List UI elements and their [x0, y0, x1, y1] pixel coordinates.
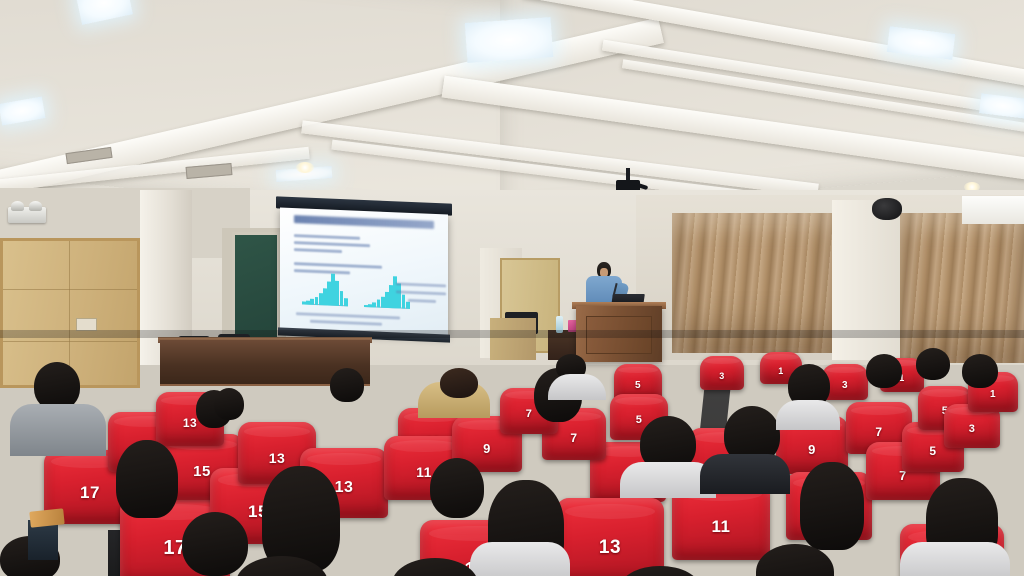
- slide-caption-1a: [296, 312, 400, 319]
- seating-front-shadow: [0, 330, 1024, 338]
- lecture-hall-photo: 5313117171515151313131111997751311151199…: [0, 0, 1024, 576]
- person-shoulders: [776, 400, 840, 430]
- person-head: [214, 388, 244, 420]
- person-head: [182, 512, 248, 576]
- emergency-lamp-left: [11, 201, 24, 211]
- person-head: [430, 458, 484, 518]
- slide-body-line-1: [294, 234, 360, 240]
- person-shoulders: [900, 542, 1010, 576]
- slide-histogram-left: [302, 270, 348, 306]
- right-window: [962, 196, 1024, 224]
- person-head: [440, 368, 478, 398]
- seat-number-label: 3: [944, 424, 1000, 435]
- emergency-lamp-right: [29, 201, 42, 211]
- person-shoulders: [700, 454, 790, 494]
- slide-body-line-4: [294, 262, 382, 269]
- wood-seam-1: [3, 289, 137, 290]
- ceiling-downlight-2: [296, 162, 314, 173]
- seat-number-label: 3: [700, 372, 744, 381]
- person-head: [866, 354, 902, 388]
- slide-caption-1b: [310, 320, 382, 326]
- histogram-bar: [406, 302, 410, 309]
- ceiling: [0, 0, 1024, 215]
- person-head: [962, 354, 998, 388]
- slide-body-line-2: [294, 241, 370, 247]
- seat-number-label: 9: [452, 442, 522, 455]
- person-head: [34, 362, 80, 410]
- screen-surface: [280, 207, 448, 336]
- emergency-light: [8, 207, 46, 223]
- seat-number-label: 9: [776, 443, 848, 456]
- person-head: [116, 440, 178, 518]
- projection-screen: [276, 196, 452, 345]
- slide-title-text: [294, 215, 434, 229]
- audience-seating: 5313117171515151313131111997751311151199…: [0, 330, 1024, 576]
- seat-number-label: 13: [556, 538, 664, 557]
- seat-number-label: 1: [968, 390, 1018, 400]
- wall-speaker-icon: [872, 198, 902, 220]
- person-shoulders: [10, 404, 106, 456]
- auditorium-seat[interactable]: 13: [556, 498, 664, 576]
- seat-number-label: 11: [672, 518, 770, 535]
- slide-body-line-3: [294, 248, 342, 253]
- person-head: [916, 348, 950, 380]
- person-head: [800, 462, 864, 550]
- histogram-bar: [344, 299, 348, 307]
- person-head: [330, 368, 364, 402]
- person-shoulders: [470, 542, 570, 576]
- auditorium-seat[interactable]: 3: [700, 356, 744, 390]
- seat-number-label: 5: [614, 381, 662, 391]
- person-shoulders: [548, 374, 606, 400]
- ceiling-panel-light-2: [465, 17, 554, 63]
- slide-caption-2c: [408, 299, 436, 303]
